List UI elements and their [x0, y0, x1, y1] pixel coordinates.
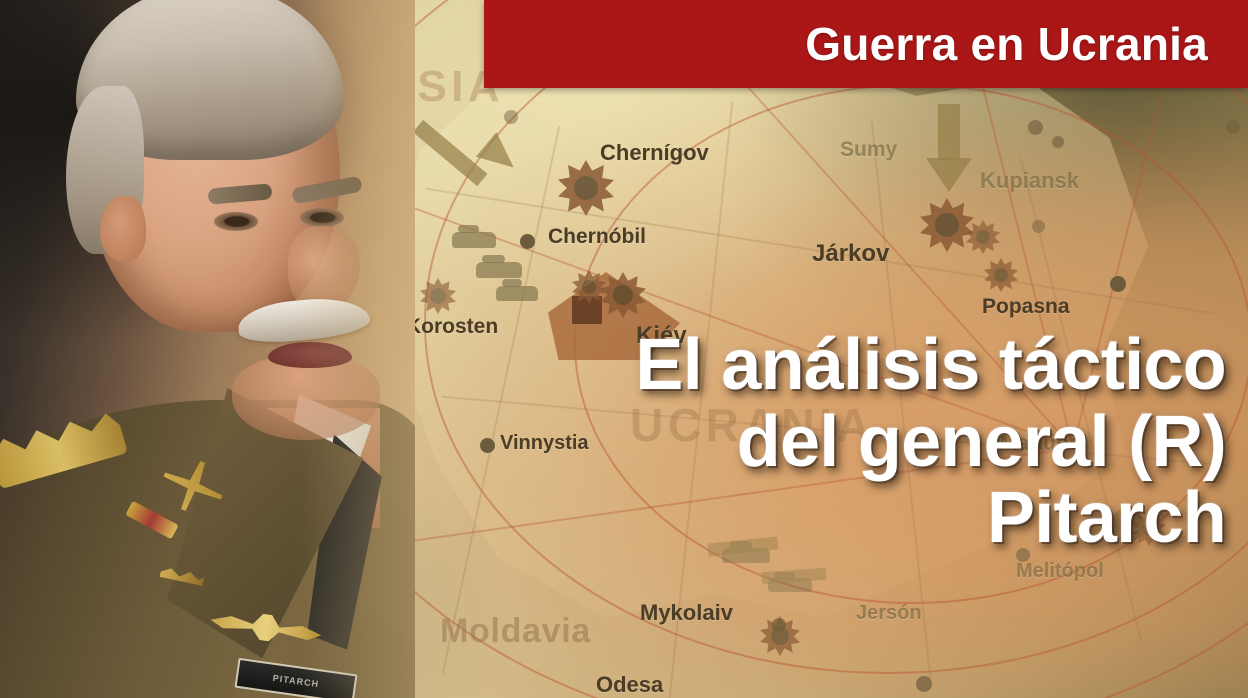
advance-arrow-icon — [926, 158, 972, 192]
ear — [100, 196, 146, 262]
map-label-ucrania: UCRANIA — [630, 398, 874, 452]
map-city-mariupol: Mariúpol — [1000, 432, 1088, 456]
map-city-chernigov: Chernígov — [600, 140, 709, 166]
topic-banner-label: Guerra en Ucrania — [805, 17, 1248, 71]
tank-icon — [496, 286, 538, 301]
tank-icon — [476, 262, 522, 278]
map-city-jerson: Jersón — [856, 602, 922, 625]
portrait-edge-blend — [299, 0, 415, 698]
map-city-jarkov: Járkov — [812, 240, 889, 268]
map-city-kiev: Kiév — [636, 322, 687, 350]
eye-left — [214, 212, 258, 231]
map-city-sumy: Sumy — [840, 138, 897, 162]
tank-icon — [452, 232, 496, 248]
map-city-korosten: Korosten — [406, 315, 498, 339]
map-city-melitopol: Melitópol — [1016, 560, 1104, 583]
map-city-odesa: Odesa — [596, 672, 663, 698]
topic-banner: Guerra en Ucrania — [484, 0, 1248, 88]
advance-arrow-icon — [938, 104, 960, 160]
map-city-mykolaiv: Mykolaiv — [640, 600, 733, 626]
map-city-popasna: Popasna — [982, 295, 1070, 319]
map-label-moldavia: Moldavia — [440, 612, 591, 651]
map-city-kupiansk: Kupiansk — [980, 168, 1079, 194]
general-portrait: PITARCH — [0, 0, 415, 698]
map-city-vinnystia: Vinnystia — [500, 432, 589, 455]
infographic-canvas: RUSIA UCRANIA Moldavia Chernígov Sumy Ku… — [0, 0, 1248, 698]
map-city-chernobil: Chernóbil — [548, 225, 646, 249]
